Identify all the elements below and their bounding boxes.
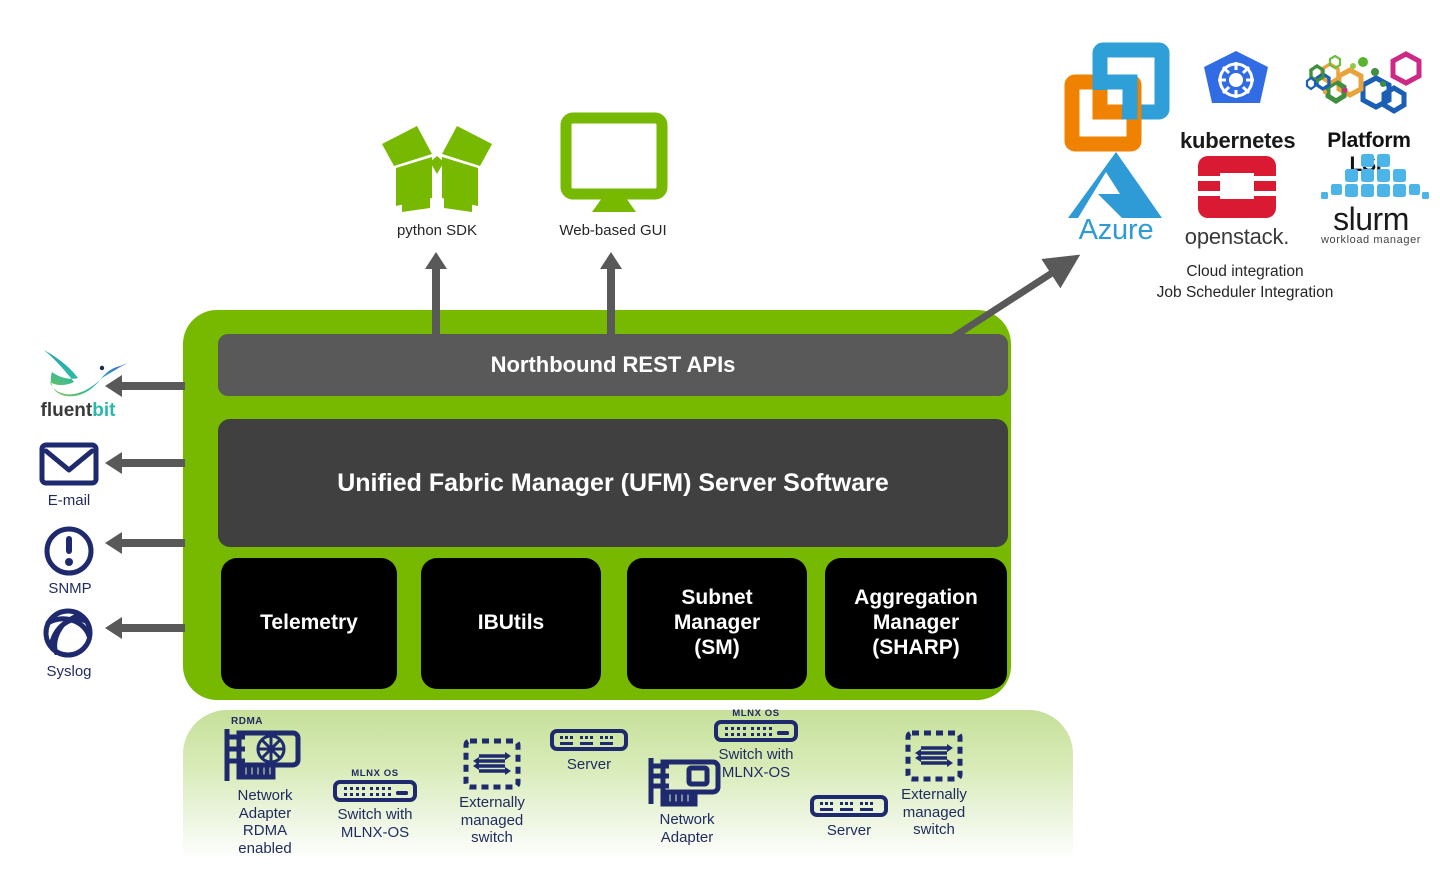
module-aggregation-manager[interactable]: Aggregation Manager (SHARP) <box>825 558 1007 689</box>
web-gui-label: Web-based GUI <box>548 222 678 239</box>
module-telemetry[interactable]: Telemetry <box>221 558 397 689</box>
fabric-device-server-1[interactable]: Server <box>545 728 633 774</box>
slurm-logo[interactable]: slurm workload manager <box>1312 152 1430 246</box>
fluentbit-label-part-a: fluent <box>41 400 93 421</box>
server-icon <box>549 728 629 752</box>
fluentbit-label: fluentbit <box>22 400 134 422</box>
module-subnet-manager[interactable]: Subnet Manager (SM) <box>627 558 807 689</box>
email-label: E-mail <box>24 492 114 509</box>
fabric-device-externally-managed-switch-2-label: Externally managed switch <box>882 786 986 839</box>
module-ibutils-line-0: IBUtils <box>472 611 551 636</box>
syslog-integration[interactable]: Syslog <box>40 606 98 660</box>
monitor-icon <box>548 112 678 220</box>
arrow-to-email <box>105 452 185 474</box>
fabric-device-externally-managed-switch-2[interactable]: Externally managed switch <box>882 730 986 839</box>
fabric-device-switch-mlnx-os-1-label: Switch with MLNX-OS <box>310 806 440 841</box>
northbound-rest-apis-bar[interactable]: Northbound REST APIs <box>218 334 1008 396</box>
fabric-device-externally-managed-switch-1[interactable]: Externally managed switch <box>440 738 544 847</box>
server-icon <box>809 794 889 818</box>
alert-exclamation-icon <box>42 525 98 577</box>
fabric-device-network-adapter-rdma-label: Network Adapter RDMA enabled <box>205 787 325 857</box>
dashed-switch-icon <box>905 730 963 782</box>
module-aggregation-manager-line-0: Aggregation <box>848 586 984 611</box>
snmp-label: SNMP <box>24 580 116 597</box>
northbound-rest-apis-label: Northbound REST APIs <box>491 352 736 378</box>
arrow-to-fluentbit <box>105 375 185 397</box>
email-integration[interactable]: E-mail <box>38 440 100 488</box>
azure-triangle-icon <box>1062 150 1170 220</box>
module-aggregation-manager-line-1: Manager <box>848 611 984 636</box>
switch-icon <box>332 779 418 803</box>
fabric-device-server-2-label: Server <box>805 822 893 840</box>
dashed-switch-icon <box>463 738 521 790</box>
syslog-label: Syslog <box>22 663 116 680</box>
lsf-hexagons-icon <box>1305 44 1433 128</box>
nic-card-rdma-icon <box>205 727 325 785</box>
switch-icon <box>713 719 799 743</box>
module-subnet-manager-line-1: Manager <box>668 611 766 636</box>
arrow-to-snmp <box>105 532 185 554</box>
python-sdk-label: python SDK <box>372 222 502 239</box>
arrow-to-python-sdk <box>430 252 442 342</box>
vmware-squares-icon <box>1062 44 1172 152</box>
module-subnet-manager-line-0: Subnet <box>668 586 766 611</box>
slurm-blocks-icon <box>1312 152 1430 206</box>
module-telemetry-line-0: Telemetry <box>254 611 364 636</box>
rdma-badge: RDMA <box>231 716 325 727</box>
ufm-server-software-label: Unified Fabric Manager (UFM) Server Soft… <box>337 469 889 498</box>
ufm-server-software-box[interactable]: Unified Fabric Manager (UFM) Server Soft… <box>218 419 1008 547</box>
slurm-label: slurm <box>1312 204 1430 234</box>
diagram-canvas: Northbound REST APIs Unified Fabric Mana… <box>0 0 1440 888</box>
module-ibutils[interactable]: IBUtils <box>421 558 601 689</box>
mlnx-os-badge-2: MLNX OS <box>698 708 814 719</box>
arrow-to-cloud-integration <box>900 230 1130 370</box>
envelope-icon <box>38 440 100 488</box>
fluentbit-label-part-b: bit <box>92 400 115 421</box>
module-aggregation-manager-line-2: (SHARP) <box>848 636 984 661</box>
snmp-integration[interactable]: SNMP <box>42 525 98 577</box>
fabric-device-server-1-label: Server <box>545 756 633 774</box>
web-gui-client[interactable]: Web-based GUI <box>548 112 678 220</box>
mlnx-os-badge-1: MLNX OS <box>310 768 440 779</box>
fabric-device-server-2[interactable]: Server <box>805 794 893 840</box>
module-subnet-manager-line-2: (SM) <box>668 636 766 661</box>
slurm-sublabel: workload manager <box>1312 234 1430 246</box>
fabric-device-switch-mlnx-os-1[interactable]: MLNX OS Switch with MLNX-OS <box>310 768 440 841</box>
vmware-logo[interactable] <box>1062 44 1172 152</box>
syslog-globe-icon <box>40 606 98 660</box>
kubernetes-helm-icon <box>1180 46 1292 126</box>
fabric-device-externally-managed-switch-1-label: Externally managed switch <box>440 794 544 847</box>
nic-card-icon <box>639 756 735 808</box>
fabric-device-network-adapter-rdma[interactable]: RDMA Network Adapter RDMA enabled <box>205 716 325 857</box>
kubernetes-logo[interactable]: kubernetes <box>1180 46 1292 154</box>
openstack-square-icon <box>1178 154 1296 222</box>
openstack-label: openstack. <box>1178 224 1296 250</box>
fabric-device-network-adapter-label: Network Adapter <box>628 811 746 846</box>
arrow-to-web-gui <box>605 252 617 342</box>
arrow-to-syslog <box>105 617 185 639</box>
openstack-logo[interactable]: openstack. <box>1178 154 1296 250</box>
open-box-icon <box>372 112 502 220</box>
kubernetes-label: kubernetes <box>1180 128 1292 154</box>
fabric-device-network-adapter[interactable]: Network Adapter <box>628 756 746 846</box>
python-sdk-client[interactable]: python SDK <box>372 112 502 220</box>
